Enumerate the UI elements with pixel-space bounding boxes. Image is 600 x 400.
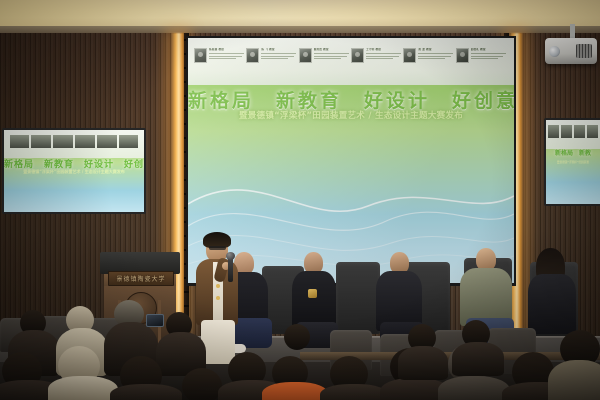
panelist-badge <box>308 289 317 298</box>
speaker-trousers <box>201 320 235 364</box>
monitor-left-portrait-strip <box>10 135 139 148</box>
audience-body <box>110 384 182 400</box>
audience-body <box>398 346 448 380</box>
lectern-plaque: 景德镇陶瓷大学 <box>108 271 174 286</box>
speaker-button <box>216 284 220 288</box>
monitor-right-subtitle: 暨景德镇“浮梁杯”田园装置 <box>546 160 600 164</box>
audience-head <box>284 324 310 350</box>
audience-head <box>182 368 222 400</box>
monitor-left-display: 新格局 新教育 好设计 好创意 暨景德镇“浮梁杯”田园装置艺术 / 生态设计主题… <box>4 130 144 212</box>
audience-body <box>320 384 388 400</box>
lectern-plaque-text: 景德镇陶瓷大学 <box>116 274 165 283</box>
audience-body <box>48 376 118 400</box>
microphone-head-icon <box>226 252 235 260</box>
monitor-left: 新格局 新教育 好设计 好创意 暨景德镇“浮梁杯”田园装置艺术 / 生态设计主题… <box>2 128 146 214</box>
panelist-torso <box>528 274 576 334</box>
projection-screen: 陈新颜 教授 陈 飞 教授 杨旭霞 教授 <box>188 38 514 283</box>
monitor-right: 新格局 新教 暨景德镇“浮梁杯”田园装置 <box>544 118 600 206</box>
speaker-button <box>216 296 220 300</box>
monitor-right-display: 新格局 新教 暨景德镇“浮梁杯”田园装置 <box>546 120 600 204</box>
screen-edge-notch <box>184 305 189 307</box>
screen-edge-notch <box>184 291 189 293</box>
photo-scene: 陈新颜 教授 陈 飞 教授 杨旭霞 教授 <box>0 0 600 400</box>
audience-body-orange <box>262 382 328 400</box>
audience-body <box>438 376 510 400</box>
speaker-glasses-icon <box>209 246 226 250</box>
screen-sheen <box>188 38 514 283</box>
smartphone-icon <box>146 314 164 327</box>
monitor-right-portrait-strip <box>548 125 598 138</box>
panel-chair <box>336 262 380 334</box>
audience-body <box>548 360 600 400</box>
projector-lens-icon <box>549 46 560 57</box>
monitor-right-title: 新格局 新教 <box>546 148 600 157</box>
monitor-left-subtitle: 暨景德镇“浮梁杯”田园装置艺术 / 生态设计主题大赛发布 <box>4 169 144 175</box>
ceiling-cove-light <box>0 0 600 26</box>
projector-vent <box>576 44 592 58</box>
audience-body <box>452 342 504 376</box>
